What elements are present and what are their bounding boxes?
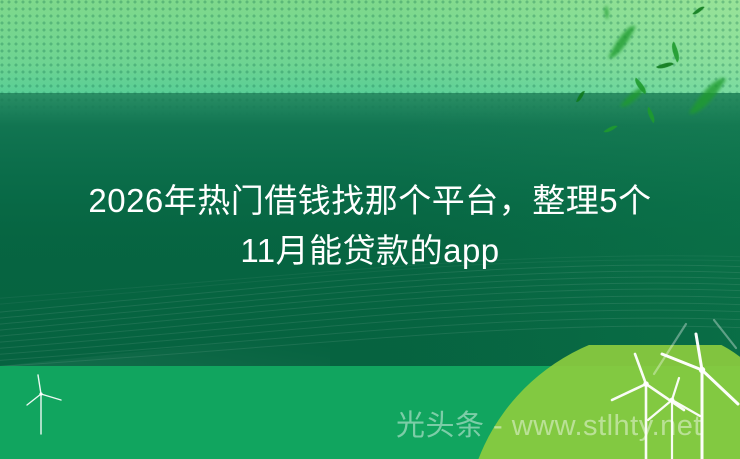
cover-title: 2026年热门借钱找那个平台，整理5个 11月能贷款的app xyxy=(0,176,740,276)
cover-title-line-2: 11月能贷款的app xyxy=(18,226,722,276)
cover-title-line-1: 2026年热门借钱找那个平台，整理5个 xyxy=(18,176,722,226)
wind-turbine-icon xyxy=(24,372,76,444)
article-cover-banner: 2026年热门借钱找那个平台，整理5个 11月能贷款的app 光头条 - www… xyxy=(0,0,740,459)
site-watermark: 光头条 - www.stlhty.net xyxy=(396,406,702,446)
turbine-blade-streak-icon xyxy=(590,318,740,388)
